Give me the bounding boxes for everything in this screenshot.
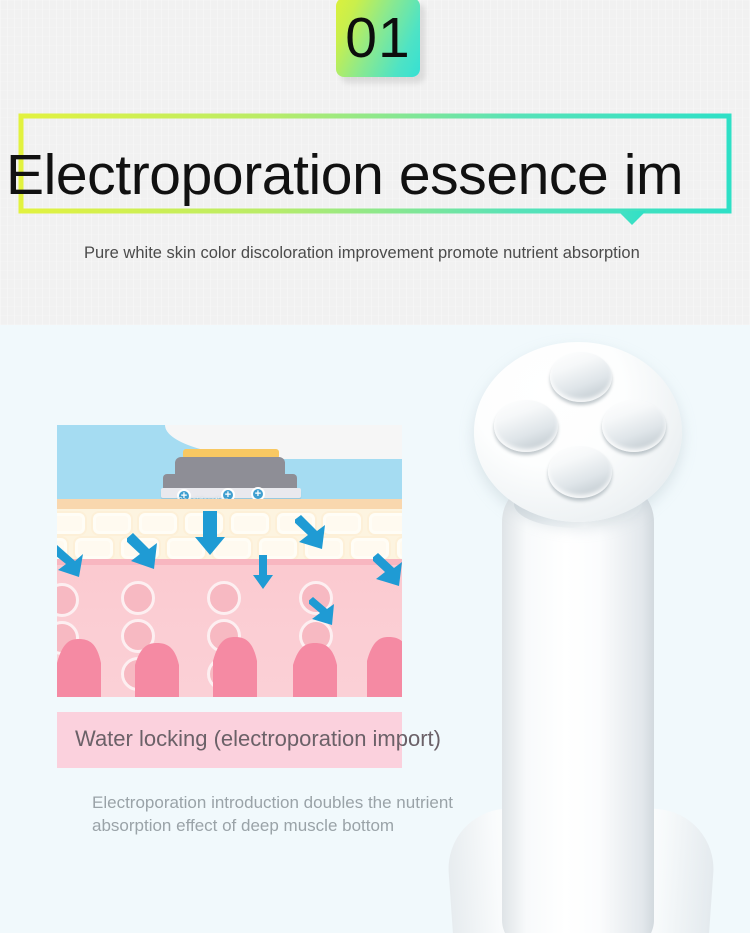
epidermis-cell-row — [57, 536, 397, 557]
diagram-epidermis — [57, 509, 402, 559]
pore-circle — [207, 581, 241, 615]
step-number-text: 01 — [345, 10, 410, 67]
electrode-right — [602, 400, 666, 452]
page-title: Electroporation essence im — [6, 147, 750, 204]
electrode-left — [494, 400, 558, 452]
poster-page: 01 Electroporation essence im Pure white… — [0, 0, 750, 933]
diagram-dermis-boundary — [57, 559, 402, 565]
skin-cross-section-diagram: + + + + + + Consideration — [57, 425, 402, 697]
absorption-arrow-icon — [373, 551, 402, 591]
pore-circle — [57, 583, 79, 617]
epidermis-cell-row — [57, 511, 402, 532]
content-section: + + + + + + Consideration — [0, 325, 750, 933]
pore-circle — [121, 581, 155, 615]
absorption-arrow-icon — [253, 555, 273, 589]
device-handle — [502, 480, 654, 933]
absorption-arrow-icon — [195, 511, 225, 555]
absorption-arrow-icon — [127, 531, 161, 575]
probe-head — [175, 457, 285, 492]
caption-text: Water locking (electroporation import) — [75, 726, 441, 752]
device-head — [474, 342, 682, 522]
absorption-arrow-icon — [295, 513, 329, 555]
step-number-badge: 01 — [336, 0, 420, 77]
electrode-bottom — [548, 446, 612, 498]
absorption-arrow-icon — [309, 595, 337, 629]
diagram-dermis — [57, 559, 402, 697]
description-text: Electroporation introduction doubles the… — [92, 792, 492, 838]
diagram-muscle-layer — [57, 625, 402, 697]
absorption-arrow-icon — [57, 543, 87, 583]
diagram-stratum-corneum — [57, 499, 402, 509]
electrode-top — [550, 352, 612, 402]
beauty-device-image: POWER LED SEL — [440, 340, 750, 933]
page-subtitle: Pure white skin color discoloration impr… — [84, 243, 744, 264]
